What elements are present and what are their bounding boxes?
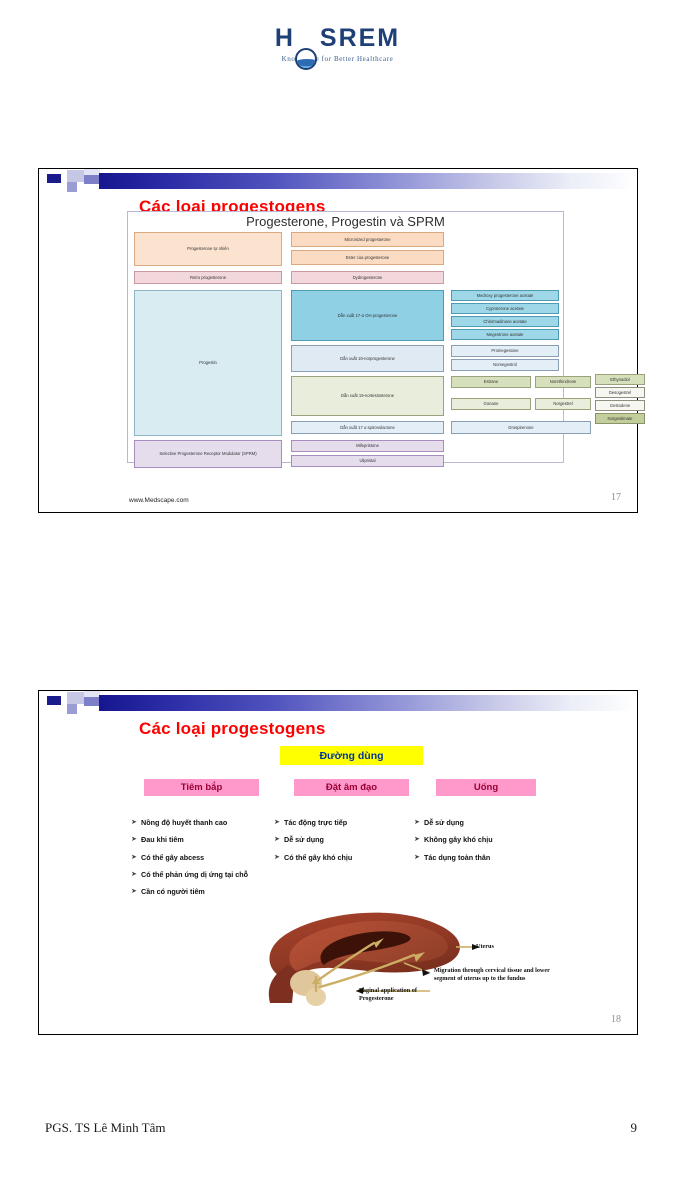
box-progesterone-tu-nhien: Progesterone tự nhiên	[134, 232, 282, 266]
box-17-alpha-oh-progesterone: Dẫn xuất 17-α OH progesterone	[291, 290, 444, 341]
bullet-marker-icon: ➤	[274, 854, 284, 862]
box-micronized-progesterone: Micronized progesterone	[291, 232, 444, 247]
list-item-label: Không gây khó chịu	[424, 836, 554, 844]
label-vaginal-application: Vaginal application of Progesterone	[359, 987, 429, 1003]
route-of-administration-header: Đường dùng	[280, 746, 423, 765]
list-item: ➤Tác động trực tiếp	[274, 819, 404, 827]
logo-wordmark: HSREM	[275, 26, 400, 51]
header-square-4	[84, 175, 100, 184]
column-header-dat-am-dao: Đặt âm đạo	[294, 779, 409, 796]
list-item: ➤Có thể gây khó chịu	[274, 854, 404, 862]
list-item-label: Đau khi tiêm	[141, 836, 271, 844]
header-gradient-bar	[99, 173, 637, 189]
column-header-tiem-bap: Tiêm bắp	[144, 779, 259, 796]
list-item: ➤Đau khi tiêm	[131, 836, 271, 844]
bullet-marker-icon: ➤	[131, 871, 141, 879]
header-square-2	[67, 170, 84, 182]
progestogen-classification-chart: Progesterone, Progestin và SPRM Progeste…	[127, 211, 564, 463]
box-desogestrel: Desogestrel	[595, 387, 645, 398]
box-dydrogesterone: Dydrogesterone	[291, 271, 444, 284]
slide-header-bar-2	[39, 691, 637, 717]
box-sprm: Selective Progesterone Receptor Modulato…	[134, 440, 282, 468]
logo-tagline: Knowledge for Better Healthcare	[275, 55, 400, 63]
slide-18-number: 18	[611, 1014, 621, 1025]
box-17-alpha-spironolactone: Dẫn xuất 17 α spironolactone	[291, 421, 444, 434]
bullet-list-uong: ➤Dễ sử dụng ➤Không gây khó chịu ➤Tác dụn…	[414, 819, 554, 871]
list-item: ➤Có thể phản ứng dị ứng tại chỗ	[131, 871, 271, 879]
box-ester-progesterone: Ester của progesterone	[291, 250, 444, 265]
box-progestin: Progestin	[134, 290, 282, 436]
box-norgestrel: Norgestrel	[535, 398, 591, 410]
list-item-label: Tác dụng toàn thân	[424, 854, 554, 862]
list-item-label: Có thể gây khó chịu	[284, 854, 404, 862]
bullet-marker-icon: ➤	[131, 836, 141, 844]
list-item: ➤Dễ sử dụng	[274, 836, 404, 844]
bullet-marker-icon: ➤	[131, 888, 141, 896]
slide-18-title: Các loại progestogens	[139, 719, 637, 739]
header-square-4	[84, 697, 100, 706]
box-19-nortestosterone: Dẫn xuất 19-nortestosterone	[291, 376, 444, 416]
box-gonane: Gonane	[451, 398, 531, 410]
box-gestodene: Gestodene	[595, 400, 645, 411]
slide-18: Các loại progestogens Đường dùng Tiêm bắ…	[38, 690, 638, 1035]
list-item: ➤Dễ sử dụng	[414, 819, 554, 827]
box-mifepristone: Mifepristone	[291, 440, 444, 452]
header-square-1	[47, 696, 61, 705]
box-norethindrone: Norethindrone	[535, 376, 591, 388]
header-square-3	[67, 182, 77, 192]
footer-author: PGS. TS Lê Minh Tâm	[45, 1120, 166, 1136]
box-19-norprogesterone: Dẫn xuất 19-norprogesterone	[291, 345, 444, 372]
bullet-marker-icon: ➤	[131, 819, 141, 827]
header-gradient-bar	[99, 695, 637, 711]
footer-page-number: 9	[631, 1120, 638, 1136]
list-item-label: Có thể gây abcess	[141, 854, 271, 862]
header-square-2	[67, 692, 84, 704]
slide-17: Các loại progestogens Progesterone, Prog…	[38, 168, 638, 513]
leader-arrow-migration	[422, 969, 430, 976]
bullet-list-dat-am-dao: ➤Tác động trực tiếp ➤Dễ sử dụng ➤Có thể …	[274, 819, 404, 871]
label-migration: Migration through cervical tissue and lo…	[434, 967, 554, 983]
bullet-marker-icon: ➤	[274, 819, 284, 827]
uterus-illustration	[244, 891, 634, 1021]
box-megestrone-acetate: Megestrone acetate	[451, 329, 559, 340]
hosrem-logo: HSREM Knowledge for Better Healthcare	[0, 26, 675, 66]
box-ethynodiol: Ethynodiol	[595, 374, 645, 385]
list-item: ➤Không gây khó chịu	[414, 836, 554, 844]
column-header-uong: Uống	[436, 779, 536, 796]
chart-source-url: www.Medscape.com	[129, 497, 189, 504]
box-estrane: Estrane	[451, 376, 531, 388]
bullet-marker-icon: ➤	[131, 854, 141, 862]
box-medroxy-progesterone-acetate: Medroxy progesterone acetate	[451, 290, 559, 301]
box-cyproterone-acetate: Cyproterone acetate	[451, 303, 559, 314]
slide-header-bar	[39, 169, 637, 195]
list-item-label: Tác động trực tiếp	[284, 819, 404, 827]
header-square-3	[67, 704, 77, 714]
list-item-label: Có thể phản ứng dị ứng tại chỗ	[141, 871, 271, 879]
box-drospirenone: Drospirenone	[451, 421, 591, 434]
bullet-marker-icon: ➤	[274, 836, 284, 844]
logo-text-post: SREM	[320, 24, 400, 52]
logo-text-pre: H	[275, 24, 295, 52]
list-item-label: Dễ sử dụng	[284, 836, 404, 844]
box-ulipristal: Ulipristal	[291, 455, 444, 467]
list-item: ➤Tác dụng toàn thân	[414, 854, 554, 862]
box-chlormadinone-acetate: Chlormadinone acetate	[451, 316, 559, 327]
chart-title: Progesterone, Progestin và SPRM	[128, 212, 563, 232]
label-uterus: Uterus	[476, 943, 494, 951]
bullet-marker-icon: ➤	[414, 854, 424, 862]
list-item-label: Dễ sử dụng	[424, 819, 554, 827]
box-promegestone: Promegestone	[451, 345, 559, 357]
box-norgestimate: Norgestimate	[595, 413, 645, 424]
list-item: ➤Có thể gây abcess	[131, 854, 271, 862]
box-nomegestrol: Nomegestrol	[451, 359, 559, 371]
list-item-label: Nồng độ huyết thanh cao	[141, 819, 271, 827]
bullet-marker-icon: ➤	[414, 836, 424, 844]
box-retro-progesterone: Retro progesterone	[134, 271, 282, 284]
header-square-1	[47, 174, 61, 183]
list-item: ➤Nồng độ huyết thanh cao	[131, 819, 271, 827]
uterus-diagram: Uterus Migration through cervical tissue…	[244, 891, 634, 1021]
bullet-marker-icon: ➤	[414, 819, 424, 827]
slide-17-number: 17	[611, 492, 621, 503]
